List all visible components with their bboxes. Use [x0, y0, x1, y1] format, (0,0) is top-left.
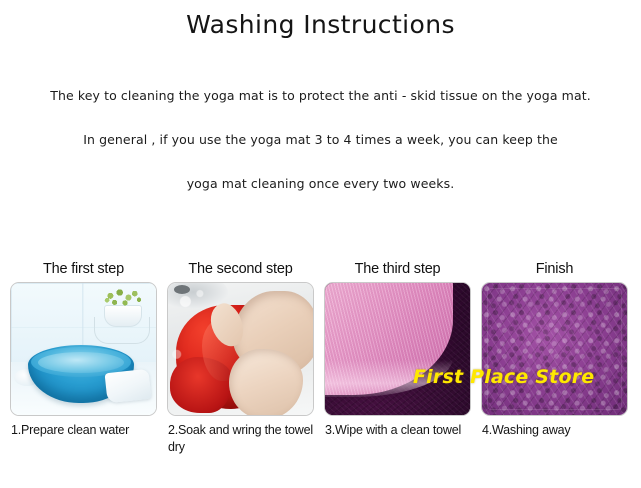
steps-row: The first step 1.Prepare clean water The… — [10, 258, 631, 456]
purple-mat-inner-edge — [487, 288, 622, 410]
step-2-heading: The second step — [167, 258, 314, 282]
step-4: Finish 4.Washing away — [481, 258, 628, 456]
white-towel — [105, 369, 152, 403]
step-4-photo — [481, 282, 628, 416]
drain-icon — [174, 285, 190, 294]
step-3-photo — [324, 282, 471, 416]
left-hand — [229, 349, 303, 416]
plant-icon — [102, 287, 144, 309]
page-title: Washing Instructions — [0, 10, 641, 39]
step-4-caption: 4.Washing away — [481, 422, 628, 439]
step-2-caption: 2.Soak and wring the towel dry — [167, 422, 314, 456]
step-2: The second step 2.Soak and wring the tow… — [167, 258, 314, 456]
step-1: The first step 1.Prepare clean water — [10, 258, 157, 456]
intro-paragraph: The key to cleaning the yoga mat is to p… — [0, 88, 641, 191]
step-1-heading: The first step — [10, 258, 157, 282]
step-4-heading: Finish — [481, 258, 628, 282]
intro-line-3: yoga mat cleaning once every two weeks. — [0, 176, 641, 191]
washing-instructions-page: Washing Instructions The key to cleaning… — [0, 0, 641, 488]
step-1-photo — [10, 282, 157, 416]
step-3-caption: 3.Wipe with a clean towel — [324, 422, 471, 439]
step-3: The third step 3.Wipe with a clean towel — [324, 258, 471, 456]
intro-line-1: The key to cleaning the yoga mat is to p… — [0, 88, 641, 103]
step-1-caption: 1.Prepare clean water — [10, 422, 157, 439]
step-2-photo — [167, 282, 314, 416]
intro-line-2: In general , if you use the yoga mat 3 t… — [0, 132, 641, 147]
step-3-heading: The third step — [324, 258, 471, 282]
water-surface — [38, 352, 124, 373]
